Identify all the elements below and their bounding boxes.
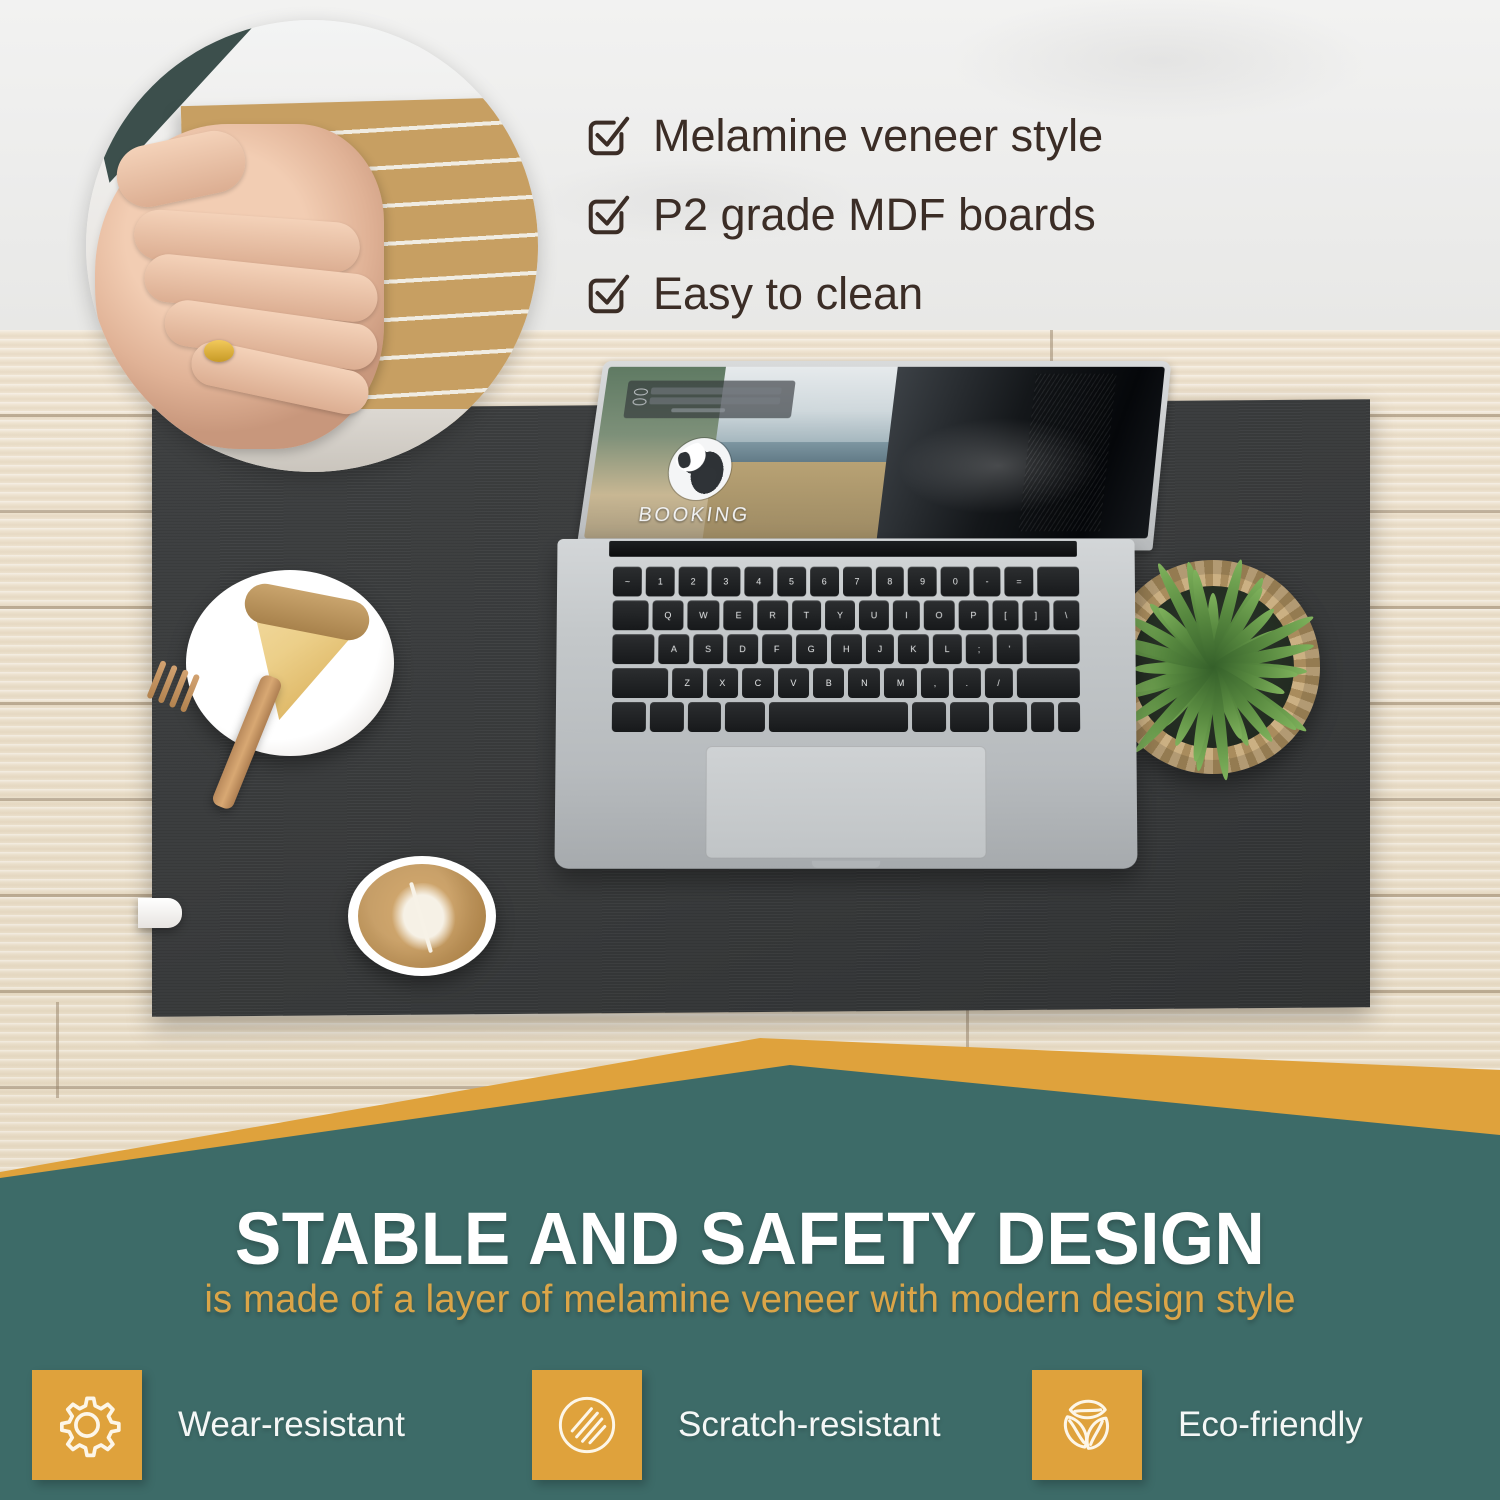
product-infographic: BOOKING ~1234567890-=QWERTYUIOP[]\ASDFGH… [0, 0, 1500, 1500]
banner-title: STABLE AND SAFETY DESIGN [45, 1196, 1455, 1281]
key-/[interactable]: / [985, 668, 1013, 698]
key[interactable] [769, 702, 909, 732]
key-=[interactable]: = [1004, 567, 1033, 597]
latte-leaf-art [381, 874, 466, 957]
key-u[interactable]: U [859, 600, 889, 630]
key-o[interactable]: O [924, 600, 955, 630]
feature-bullet-list: Melamine veneer styleP2 grade MDF boards… [585, 96, 1205, 333]
key-z[interactable]: Z [672, 668, 703, 698]
screen-rock-texture [1018, 374, 1116, 532]
feature-label: Scratch-resistant [678, 1405, 941, 1445]
key-n[interactable]: N [848, 668, 880, 698]
key-0[interactable]: 0 [941, 567, 970, 597]
key-.[interactable]: . [953, 668, 981, 698]
key-r[interactable]: R [757, 600, 787, 630]
key-[[interactable]: [ [992, 600, 1019, 630]
sign-in-button[interactable] [671, 408, 725, 412]
key-h[interactable]: H [831, 634, 862, 664]
latte-cup [348, 856, 496, 976]
key-t[interactable]: T [792, 600, 821, 630]
key[interactable] [612, 702, 646, 732]
gear-icon [32, 1370, 142, 1480]
laptop-lid: BOOKING [576, 361, 1171, 551]
keyboard-row: ZXCVBNM,./ [612, 668, 1080, 698]
key-c[interactable]: C [742, 668, 774, 698]
key--[interactable]: - [974, 567, 1001, 597]
key[interactable] [1031, 702, 1054, 732]
keyboard-row: ~1234567890-= [613, 567, 1079, 597]
key[interactable] [950, 702, 990, 732]
key-f[interactable]: F [762, 634, 792, 664]
password-field[interactable] [649, 398, 780, 405]
key-g[interactable]: G [796, 634, 827, 664]
cup-handle [138, 898, 182, 928]
feature-badge-row: Wear-resistant Scratch-resistant [0, 1360, 1500, 1490]
key-d[interactable]: D [727, 634, 758, 664]
feature-bullet: Melamine veneer style [585, 96, 1205, 175]
keyboard-row [612, 702, 1080, 732]
laptop-hinge [609, 541, 1077, 557]
key[interactable] [687, 702, 721, 732]
key[interactable] [650, 702, 684, 732]
key-2[interactable]: 2 [679, 567, 708, 597]
key-i[interactable]: I [893, 600, 919, 630]
key-y[interactable]: Y [825, 600, 855, 630]
key-p[interactable]: P [958, 600, 988, 630]
feature-label: Wear-resistant [178, 1405, 405, 1445]
feature-bullet: Easy to clean [585, 254, 1205, 333]
key[interactable] [613, 600, 649, 630]
hand-holding-mdf-boards-inset [86, 20, 538, 472]
bottom-banner: STABLE AND SAFETY DESIGN is made of a la… [0, 1020, 1500, 1500]
username-field[interactable] [650, 388, 781, 395]
key-m[interactable]: M [884, 668, 917, 698]
key[interactable] [1057, 702, 1080, 732]
key-~[interactable]: ~ [613, 567, 642, 597]
key-j[interactable]: J [866, 634, 895, 664]
wedding-ring [204, 340, 234, 362]
key-b[interactable]: B [813, 668, 844, 698]
key-a[interactable]: A [659, 634, 689, 664]
feature-wear-resistant: Wear-resistant [32, 1370, 532, 1480]
user-icon [634, 388, 649, 396]
key-4[interactable]: 4 [744, 567, 773, 597]
key-e[interactable]: E [724, 600, 754, 630]
key-5[interactable]: 5 [777, 567, 806, 597]
banner-subtitle: is made of a layer of melamine veneer wi… [15, 1278, 1485, 1322]
feature-bullet-label: Melamine veneer style [653, 113, 1103, 158]
key[interactable] [1016, 668, 1079, 698]
laptop-screen: BOOKING [584, 367, 1165, 539]
key[interactable] [912, 702, 946, 732]
checkbox-check-icon [585, 192, 631, 238]
feature-label: Eco-friendly [1178, 1405, 1363, 1445]
key[interactable] [1026, 634, 1079, 664]
key-s[interactable]: S [693, 634, 723, 664]
checkbox-check-icon [585, 113, 631, 159]
key[interactable] [1037, 567, 1079, 597]
key-l[interactable]: L [932, 634, 961, 664]
laptop-lid-notch [812, 861, 880, 868]
laptop: BOOKING ~1234567890-=QWERTYUIOP[]\ASDFGH… [556, 360, 1136, 880]
key-][interactable]: ] [1023, 600, 1050, 630]
checkbox-check-icon [585, 271, 631, 317]
feature-bullet-label: Easy to clean [653, 271, 923, 316]
key-v[interactable]: V [778, 668, 809, 698]
screen-rock-wall [877, 367, 1165, 539]
laptop-base: ~1234567890-=QWERTYUIOP[]\ASDFGHJKL;'ZXC… [554, 539, 1137, 869]
laptop-trackpad[interactable] [705, 746, 986, 859]
key-3[interactable]: 3 [711, 567, 740, 597]
globe-icon [665, 438, 736, 500]
feature-bullet: P2 grade MDF boards [585, 175, 1205, 254]
key[interactable] [612, 634, 655, 664]
key-8[interactable]: 8 [875, 567, 904, 597]
feature-scratch-resistant: Scratch-resistant [532, 1370, 1032, 1480]
key-w[interactable]: W [687, 600, 719, 630]
key-1[interactable]: 1 [646, 567, 675, 597]
key[interactable] [993, 702, 1027, 732]
key-k[interactable]: K [898, 634, 928, 664]
feature-bullet-label: P2 grade MDF boards [653, 192, 1096, 237]
key-\[interactable]: \ [1053, 600, 1080, 630]
laptop-keyboard[interactable]: ~1234567890-=QWERTYUIOP[]\ASDFGHJKL;'ZXC… [612, 567, 1080, 734]
plate-with-quiche-slice [186, 570, 394, 756]
recycle-leaves-icon [1032, 1370, 1142, 1480]
key[interactable] [725, 702, 764, 732]
login-panel[interactable] [624, 380, 796, 417]
key-;[interactable]: ; [966, 634, 993, 664]
key-q[interactable]: Q [652, 600, 683, 630]
key[interactable] [612, 668, 668, 698]
lock-icon [632, 398, 647, 406]
key-6[interactable]: 6 [810, 567, 839, 597]
key-,[interactable]: , [921, 668, 949, 698]
coffee-crema [358, 864, 486, 968]
key-7[interactable]: 7 [843, 567, 872, 597]
wicker-basket [1106, 560, 1320, 774]
screen-brand: BOOKING [619, 438, 777, 527]
scratch-circle-icon [532, 1370, 642, 1480]
keyboard-row: ASDFGHJKL;' [612, 634, 1079, 664]
brand-label: BOOKING [637, 504, 752, 527]
key-x[interactable]: X [707, 668, 738, 698]
key-9[interactable]: 9 [908, 567, 937, 597]
keyboard-row: QWERTYUIOP[]\ [613, 600, 1080, 630]
feature-eco-friendly: Eco-friendly [1032, 1370, 1472, 1480]
key-'[interactable]: ' [996, 634, 1022, 664]
